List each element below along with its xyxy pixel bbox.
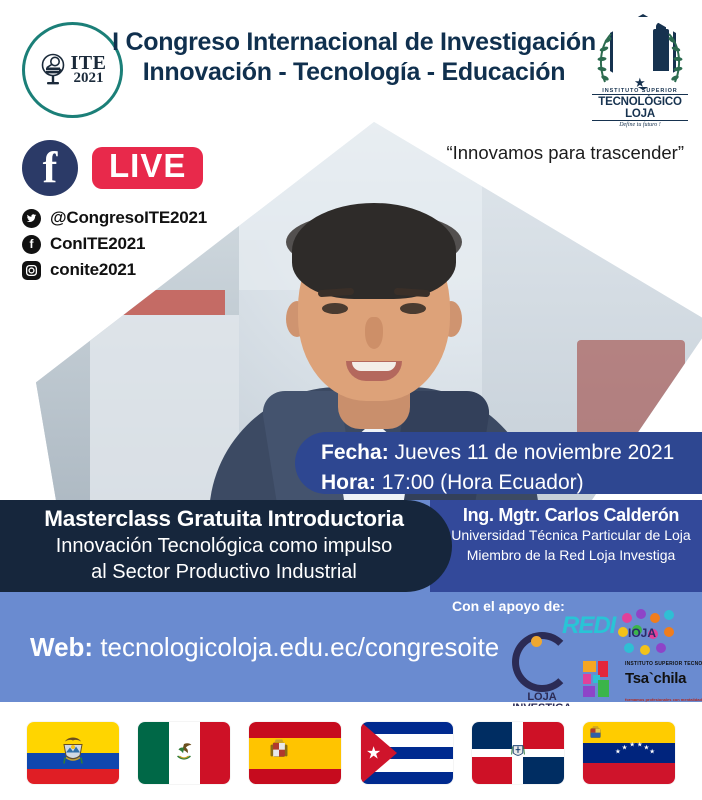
event-time-label: Hora: bbox=[321, 471, 376, 494]
sponsor-logos: REDI IOJA LOJA INVESTIGA RED DE INVESTIG… bbox=[500, 612, 700, 692]
masterclass-subtitle-1: Innovación Tecnológica como impulso bbox=[0, 534, 452, 558]
ecuador-coat-of-arms-icon bbox=[60, 734, 86, 773]
event-time-row: Hora: 17:00 (Hora Ecuador) bbox=[321, 468, 702, 498]
svg-text:★: ★ bbox=[630, 741, 636, 749]
flag-cuba: ★ bbox=[361, 722, 453, 784]
research-magnifier-books-icon bbox=[39, 53, 69, 87]
flag-ecuador bbox=[27, 722, 119, 784]
speaker-membership: Miembro de la Red Loja Investiga bbox=[440, 546, 702, 566]
svg-text:★: ★ bbox=[637, 741, 643, 749]
mexico-coat-of-arms-icon bbox=[172, 739, 196, 768]
flag-mexico bbox=[138, 722, 230, 784]
masterclass-panel: Masterclass Gratuita Introductoria Innov… bbox=[0, 500, 452, 592]
social-handle-instagram: conite2021 bbox=[50, 260, 136, 280]
tsachila-line2: Tsa`chila bbox=[625, 670, 686, 687]
wreath-right-icon bbox=[666, 32, 684, 84]
flag-dominican-republic bbox=[472, 722, 564, 784]
person-teeth bbox=[352, 362, 396, 371]
flags-row: ★ bbox=[0, 706, 702, 800]
svg-text:★: ★ bbox=[622, 744, 628, 752]
title-line-2: Innovación - Tecnología - Educación bbox=[110, 58, 598, 88]
speaker-info: Ing. Mgtr. Carlos Calderón Universidad T… bbox=[440, 505, 702, 566]
tsachila-line3: formamos profesionales con mentalidad gl… bbox=[625, 697, 702, 702]
dominican-coat-of-arms-icon bbox=[510, 742, 526, 765]
tsachila-mark-icon bbox=[582, 660, 622, 698]
masterclass-title: Masterclass Gratuita Introductoria bbox=[0, 506, 452, 532]
social-handle-twitter: @CongresoITE2021 bbox=[50, 208, 207, 228]
person-eye-right bbox=[400, 303, 426, 314]
website-line[interactable]: Web: tecnologicoloja.edu.ec/congresoite bbox=[30, 632, 499, 663]
photo-roof-accent bbox=[50, 290, 226, 315]
event-date-value: Jueves 11 de noviembre 2021 bbox=[395, 441, 675, 464]
social-row-facebook[interactable]: f ConITE2021 bbox=[22, 234, 207, 254]
page-title: I Congreso Internacional de Investigació… bbox=[110, 28, 598, 87]
svg-text:★: ★ bbox=[650, 747, 656, 755]
venezuela-stars-icon: ★ ★ ★ ★ ★ ★ bbox=[613, 741, 655, 765]
loja-investiga-dot-icon bbox=[531, 636, 542, 647]
institute-logo-small: INSTITUTO SUPERIOR bbox=[592, 88, 688, 94]
person-nose bbox=[365, 317, 383, 349]
ite-logo-year: 2021 bbox=[74, 72, 104, 86]
svg-text:★: ★ bbox=[615, 747, 621, 755]
live-badge: LIVE bbox=[92, 147, 203, 189]
person-hair bbox=[292, 203, 456, 299]
social-row-instagram[interactable]: conite2021 bbox=[22, 260, 207, 280]
flag-spain bbox=[249, 722, 341, 784]
venezuela-coat-of-arms-icon bbox=[589, 726, 602, 746]
person-eye-left bbox=[322, 303, 348, 314]
facebook-live-banner: f LIVE bbox=[22, 140, 203, 196]
title-line-1: I Congreso Internacional de Investigació… bbox=[110, 28, 598, 58]
tsachila-logo: INSTITUTO SUPERIOR TECNOLÓGICO Tsa`chila… bbox=[582, 652, 702, 706]
event-date-label: Fecha: bbox=[321, 441, 389, 464]
speaker-name: Ing. Mgtr. Carlos Calderón bbox=[440, 505, 702, 526]
event-date-row: Fecha: Jueves 11 de noviembre 2021 bbox=[321, 438, 702, 468]
facebook-icon[interactable]: f bbox=[22, 140, 78, 196]
masterclass-subtitle-2: al Sector Productivo Industrial bbox=[0, 560, 452, 584]
flag-venezuela: ★ ★ ★ ★ ★ ★ bbox=[583, 722, 675, 784]
social-handle-facebook: ConITE2021 bbox=[50, 234, 145, 254]
institute-logo: ★ INSTITUTO SUPERIOR TECNOLÓGICO LOJA De… bbox=[592, 14, 688, 122]
wreath-left-icon bbox=[596, 32, 614, 84]
website-url: tecnologicoloja.edu.ec/congresoite bbox=[100, 632, 499, 662]
redi-logo-sub: IOJA bbox=[628, 626, 656, 640]
institute-logo-name: TECNOLÓGICO LOJA bbox=[592, 94, 688, 121]
ite-logo: ITE 2021 bbox=[22, 22, 123, 118]
social-row-twitter[interactable]: @CongresoITE2021 bbox=[22, 208, 207, 228]
facebook-icon: f bbox=[22, 235, 41, 254]
tsachila-line1: INSTITUTO SUPERIOR TECNOLÓGICO bbox=[625, 661, 702, 667]
event-time-value: 17:00 (Hora Ecuador) bbox=[382, 471, 584, 494]
institute-logo-tagline: Define tu futuro ! bbox=[592, 122, 688, 128]
cuba-star-icon: ★ bbox=[366, 745, 381, 762]
website-label: Web: bbox=[30, 632, 93, 662]
loja-investiga-ring-icon bbox=[512, 632, 572, 692]
poster-canvas: ITE 2021 I Congreso Internacional de Inv… bbox=[0, 0, 702, 800]
instagram-icon bbox=[22, 261, 41, 280]
poster-header: ITE 2021 I Congreso Internacional de Inv… bbox=[0, 0, 702, 125]
event-datetime-badge: Fecha: Jueves 11 de noviembre 2021 Hora:… bbox=[295, 432, 702, 494]
slogan-quote: “Innovamos para trascender” bbox=[446, 142, 684, 164]
twitter-icon bbox=[22, 209, 41, 228]
spain-coat-of-arms-icon bbox=[268, 738, 290, 769]
speaker-affiliation: Universidad Técnica Particular de Loja bbox=[440, 526, 702, 546]
social-handles: @CongresoITE2021 f ConITE2021 conite2021 bbox=[22, 208, 207, 286]
